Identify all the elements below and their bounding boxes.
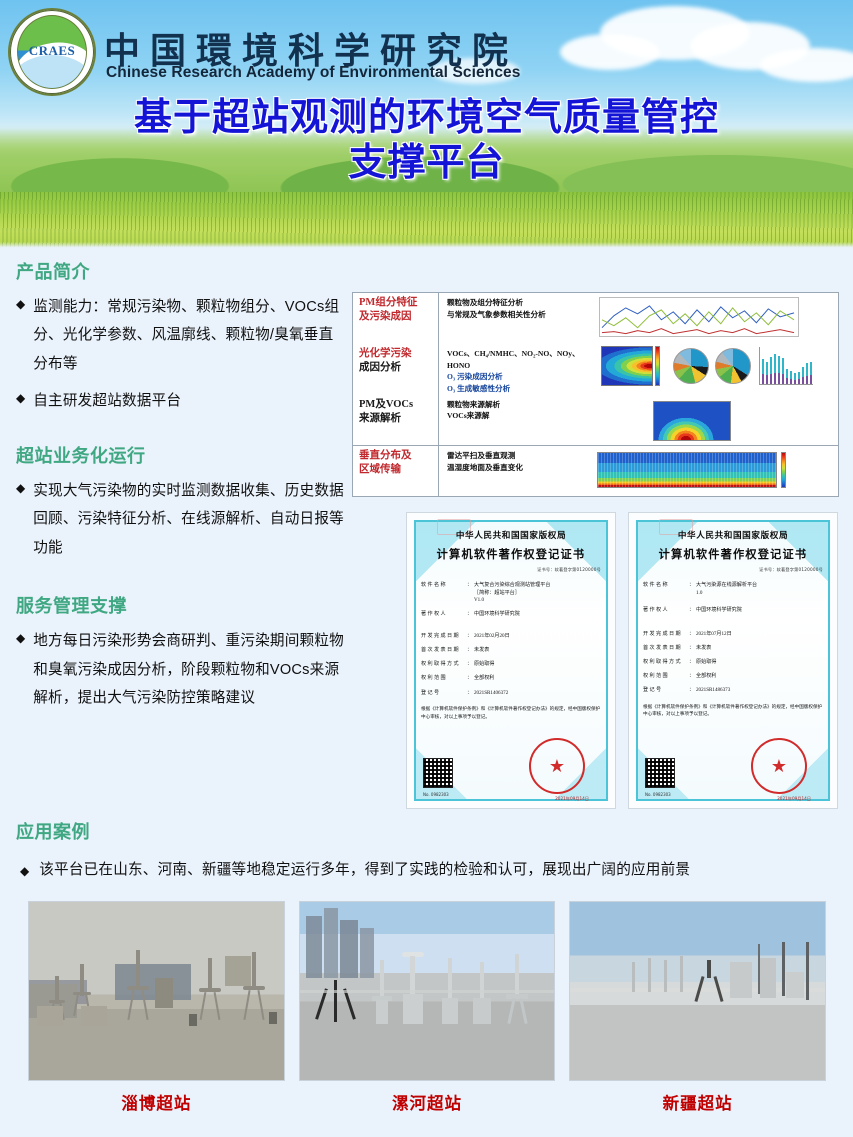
- desc-line: 与常规及气象参数相关性分析: [447, 309, 587, 321]
- qr-code-icon: [645, 758, 675, 788]
- field-value: 未发表: [474, 647, 601, 655]
- instrument-tripod: [398, 950, 428, 1026]
- instrument-tripod: [676, 956, 686, 996]
- certificate-field: 著作权人：中国环境科学研究院: [421, 611, 601, 619]
- certificate-authority: 中华人民共和国国家版权局: [421, 529, 601, 541]
- diagram-row-label-line1: 垂直分布及: [359, 450, 412, 461]
- field-key: 登记号: [421, 690, 467, 698]
- desc-line: O₃ 污染成因分析: [447, 371, 587, 383]
- certificate-field: 开发完成日期：2021年02月20日: [421, 633, 601, 641]
- diagram-row-label-line1: PM组分特征: [359, 297, 417, 308]
- certificate-field: 软件名称：大气复合污染综合观测站管理平台 ［简称：超站平台］ V1.0: [421, 582, 601, 605]
- bullet-item: ◆ 实现大气污染物的实时监测数据收集、历史数据回顾、污染特征分析、在线源解析、自…: [16, 477, 346, 562]
- photo-caption: 新疆超站: [569, 1090, 826, 1114]
- left-content-column: 产品简介 ◆ 监测能力：常规污染物、颗粒物组分、VOCs组分、光化学参数、风温廓…: [16, 258, 346, 733]
- certificate-title: 计算机软件著作权登记证书: [643, 546, 823, 562]
- diagram-row-label: PM组分特征 及污染成因: [353, 293, 439, 344]
- isopleth-chart-thumb: [601, 346, 653, 386]
- photo-caption: 漯河超站: [299, 1090, 556, 1114]
- field-value: 全部权利: [474, 675, 601, 683]
- bullet-item: ◆ 监测能力：常规污染物、颗粒物组分、VOCs组分、光化学参数、风温廓线、颗粒物…: [16, 293, 346, 378]
- field-value: 2021年02月20日: [474, 633, 601, 641]
- certificate-fields: 软件名称：大气污染源在线源解析平台 1.0 著作权人：中国环境科学研究院 开发完…: [643, 582, 823, 695]
- timeseries-sparkline: [600, 298, 798, 337]
- diagram-row-label: 光化学污染 成因分析: [353, 344, 439, 395]
- certificate-seal-date: 2021年09月14日: [555, 796, 589, 802]
- diagram-row-figures: [591, 344, 838, 395]
- field-value: 原始取得: [474, 661, 601, 669]
- section-application-cases: 应用案例: [16, 818, 90, 844]
- page-title-line1: 基于超站观测的环境空气质量管控: [134, 97, 719, 139]
- bullet-text: 实现大气污染物的实时监测数据收集、历史数据回顾、污染特征分析、在线源解析、自动日…: [33, 477, 346, 562]
- certificate-fields: 软件名称：大气复合污染综合观测站管理平台 ［简称：超站平台］ V1.0 著作权人…: [421, 582, 601, 697]
- pie-chart-thumb: [715, 348, 751, 384]
- field-key: 登记号: [643, 687, 689, 695]
- desc-line: O₃ 生成敏感性分析: [447, 383, 587, 395]
- field-value: 2021SR1406372: [474, 690, 601, 698]
- section-heading: 产品简介: [16, 258, 346, 284]
- craes-logo: CRAES: [8, 8, 96, 96]
- grass-graphic: [0, 192, 853, 248]
- field-key: 首次发表日期: [421, 647, 467, 655]
- diagram-row-label-line1: PM及VOCs: [359, 399, 413, 410]
- page-title: 基于超站观测的环境空气质量管控 支撑平台: [0, 96, 853, 186]
- diagram-row-label-line2: 区域传输: [359, 464, 401, 475]
- instrument-tripod: [318, 980, 354, 1024]
- field-value: 全部权利: [696, 673, 823, 681]
- field-key: 权利取得方式: [421, 661, 467, 669]
- field-value: 2021年07月12日: [696, 631, 823, 639]
- certificate-number: 证书号：软著登字第0120000号: [421, 567, 601, 573]
- photo-captions-row: 淄博超站 漯河超站 新疆超站: [28, 1090, 826, 1114]
- diamond-bullet-icon: ◆: [16, 629, 25, 647]
- field-key: 开发完成日期: [421, 633, 467, 641]
- instrument-tripod: [472, 962, 492, 1026]
- timeseries-chart-thumb: [599, 297, 799, 337]
- diagram-row-label: 垂直分布及 区域传输: [353, 446, 439, 496]
- diagram-row-figures: [591, 446, 838, 496]
- bullet-text: 自主研发超站数据平台: [33, 387, 181, 415]
- field-key: 权利取得方式: [643, 659, 689, 667]
- page-title-line2: 支撑平台: [0, 141, 853, 186]
- stacked-bar-chart-thumb: [759, 347, 813, 385]
- application-bullet-item: ◆ 该平台已在山东、河南、新疆等地稳定运行多年，得到了实践的检验和认可，展现出广…: [20, 860, 840, 880]
- certificate-note: 根据《计算机软件保护条例》和《计算机软件著作权登记办法》的规定，经中国版权保护中…: [643, 703, 823, 718]
- desc-line: 颗粒物来源解析: [447, 399, 587, 411]
- field-key: 软件名称: [643, 582, 689, 597]
- pie-chart-thumb: [673, 348, 709, 384]
- instrument-tripod: [243, 952, 265, 1024]
- official-seal-icon: ★: [751, 738, 807, 794]
- certificate-field: 软件名称：大气污染源在线源解析平台 1.0: [643, 582, 823, 597]
- instrument-tripod: [696, 960, 722, 1004]
- cloud-shape: [560, 34, 660, 70]
- diagram-row-label-line2: 成因分析: [359, 362, 401, 373]
- section-product-intro: 产品简介 ◆ 监测能力：常规污染物、颗粒物组分、VOCs组分、光化学参数、风温廓…: [16, 258, 346, 416]
- certificate-field: 权利取得方式：原始取得: [421, 661, 601, 669]
- certificate-field: 权利范围：全部权利: [643, 673, 823, 681]
- diagram-row-desc: VOCs、CH₄/NMHC、NO₂-NO、NOy、HONO O₃ 污染成因分析 …: [439, 344, 591, 395]
- section-operational-run: 超站业务化运行 ◆ 实现大气污染物的实时监测数据收集、历史数据回顾、污染特征分析…: [16, 442, 346, 562]
- diagram-row-desc: 颗粒物及组分特征分析 与常规及气象参数相关性分析: [439, 293, 591, 344]
- field-key: 权利范围: [421, 675, 467, 683]
- certificate-qr-label: No. 0982303: [645, 792, 671, 797]
- field-value: 大气复合污染综合观测站管理平台 ［简称：超站平台］ V1.0: [474, 582, 601, 605]
- diagram-row: PM及VOCs 来源解析 颗粒物来源解析 VOCs来源解: [353, 395, 838, 446]
- section-heading: 应用案例: [16, 818, 90, 844]
- certificates-group: 中华人民共和国国家版权局 计算机软件著作权登记证书 证书号：软著登字第01200…: [406, 512, 838, 809]
- poster-banner: CRAES 中国環境科学研究院 Chinese Research Academy…: [0, 0, 853, 248]
- capability-diagram-panel: PM组分特征 及污染成因 颗粒物及组分特征分析 与常规及气象参数相关性分析 光化…: [352, 292, 839, 497]
- vertical-heatmap-thumb: [653, 401, 731, 441]
- certificate-field: 权利取得方式：原始取得: [643, 659, 823, 667]
- instrument-tripod: [660, 960, 670, 996]
- radar-timeheight-heatmap-thumb: [597, 452, 777, 488]
- desc-line: VOCs来源解: [447, 410, 587, 422]
- field-value: 中国环境科学研究院: [696, 607, 823, 615]
- section-heading: 超站业务化运行: [16, 442, 346, 468]
- organization-name-en: Chinese Research Academy of Environmenta…: [106, 64, 520, 82]
- software-copyright-certificate: 中华人民共和国国家版权局 计算机软件著作权登记证书 证书号：软著登字第01200…: [406, 512, 616, 809]
- station-photo: [28, 901, 285, 1081]
- certificate-header: 中华人民共和国国家版权局 计算机软件著作权登记证书: [421, 529, 601, 562]
- desc-line: 雷达平扫及垂直观测: [447, 450, 587, 462]
- software-copyright-certificate: 中华人民共和国国家版权局 计算机软件著作权登记证书 证书号：软著登字第01200…: [628, 512, 838, 809]
- qr-code-icon: [423, 758, 453, 788]
- field-value: 2021SR1486373: [696, 687, 823, 695]
- desc-line: 温湿度地面及垂直变化: [447, 462, 587, 474]
- field-key: 软件名称: [421, 582, 467, 605]
- certificate-title: 计算机软件著作权登记证书: [421, 546, 601, 562]
- instrument-tripod: [644, 958, 654, 996]
- certificate-seal-date: 2021年09月14日: [777, 796, 811, 802]
- instrument-tripod: [628, 962, 638, 996]
- station-photo: [569, 901, 826, 1081]
- field-value: 大气污染源在线源解析平台 1.0: [696, 582, 823, 597]
- field-key: 权利范围: [643, 673, 689, 681]
- diagram-row-label-line2: 来源解析: [359, 413, 401, 424]
- photo-caption: 淄博超站: [28, 1090, 285, 1114]
- certificate-field: 著作权人：中国环境科学研究院: [643, 607, 823, 615]
- official-seal-icon: ★: [529, 738, 585, 794]
- station-photo: [299, 901, 556, 1081]
- certificate-field: 首次发表日期：未发表: [421, 647, 601, 655]
- diagram-row-figures: [591, 293, 838, 344]
- diagram-row-label-line1: 光化学污染: [359, 348, 412, 359]
- desc-line: VOCs、CH₄/NMHC、NO₂-NO、NOy、HONO: [447, 348, 587, 372]
- certificate-field: 开发完成日期：2021年07月12日: [643, 631, 823, 639]
- field-value: 未发表: [696, 645, 823, 653]
- diagram-row: PM组分特征 及污染成因 颗粒物及组分特征分析 与常规及气象参数相关性分析: [353, 293, 838, 344]
- certificate-field: 登记号：2021SR1486373: [643, 687, 823, 695]
- certificate-qr-label: No. 0982303: [423, 792, 449, 797]
- diamond-bullet-icon: ◆: [20, 862, 29, 880]
- bullet-text: 地方每日污染形势会商研判、重污染期间颗粒物和臭氧污染成因分析，阶段颗粒物和VOC…: [33, 627, 346, 712]
- diagram-row: 光化学污染 成因分析 VOCs、CH₄/NMHC、NO₂-NO、NOy、HONO…: [353, 344, 838, 395]
- diagram-row-desc: 雷达平扫及垂直观测 温湿度地面及垂直变化: [439, 446, 591, 496]
- bullet-item: ◆ 自主研发超站数据平台: [16, 387, 346, 415]
- certificate-number: 证书号：软著登字第0120000号: [643, 567, 823, 573]
- diamond-bullet-icon: ◆: [16, 295, 25, 313]
- diagram-row: 垂直分布及 区域传输 雷达平扫及垂直观测 温湿度地面及垂直变化: [353, 445, 838, 496]
- bullet-item: ◆ 地方每日污染形势会商研判、重污染期间颗粒物和臭氧污染成因分析，阶段颗粒物和V…: [16, 627, 346, 712]
- field-key: 著作权人: [421, 611, 467, 619]
- station-photos-group: [28, 901, 826, 1081]
- field-key: 开发完成日期: [643, 631, 689, 639]
- field-value: 中国环境科学研究院: [474, 611, 601, 619]
- diamond-bullet-icon: ◆: [16, 389, 25, 407]
- diagram-row-desc: 颗粒物来源解析 VOCs来源解: [439, 395, 591, 446]
- instrument-tripod: [127, 950, 149, 1022]
- cloud-shape: [760, 48, 853, 82]
- field-key: 首次发表日期: [643, 645, 689, 653]
- certificate-field: 登记号：2021SR1406372: [421, 690, 601, 698]
- field-key: 著作权人: [643, 607, 689, 615]
- diagram-row-figures: [591, 395, 838, 446]
- logo-swoosh-blue: [17, 55, 87, 88]
- diamond-bullet-icon: ◆: [16, 479, 25, 497]
- certificate-note: 根据《计算机软件保护条例》和《计算机软件著作权登记办法》的规定，经中国版权保护中…: [421, 705, 601, 720]
- certificate-authority: 中华人民共和国国家版权局: [643, 529, 823, 541]
- isopleth-colorbar: [655, 346, 660, 386]
- heatmap-colorbar: [781, 452, 786, 488]
- logo-acronym-text: CRAES: [8, 43, 96, 59]
- certificate-field: 权利范围：全部权利: [421, 675, 601, 683]
- section-service-support: 服务管理支撑 ◆ 地方每日污染形势会商研判、重污染期间颗粒物和臭氧污染成因分析，…: [16, 592, 346, 712]
- section-heading: 服务管理支撑: [16, 592, 346, 618]
- instrument-tripod: [199, 958, 221, 1024]
- diagram-row-label: PM及VOCs 来源解析: [353, 395, 439, 446]
- application-bullet-text: 该平台已在山东、河南、新疆等地稳定运行多年，得到了实践的检验和认可，展现出广阔的…: [39, 860, 690, 880]
- desc-line: 颗粒物及组分特征分析: [447, 297, 587, 309]
- bullet-text: 监测能力：常规污染物、颗粒物组分、VOCs组分、光化学参数、风温廓线、颗粒物/臭…: [33, 293, 346, 378]
- certificate-field: 首次发表日期：未发表: [643, 645, 823, 653]
- certificate-header: 中华人民共和国国家版权局 计算机软件著作权登记证书: [643, 529, 823, 562]
- field-value: 原始取得: [696, 659, 823, 667]
- diagram-row-label-line2: 及污染成因: [359, 311, 412, 322]
- instrument-tripod: [372, 960, 392, 1026]
